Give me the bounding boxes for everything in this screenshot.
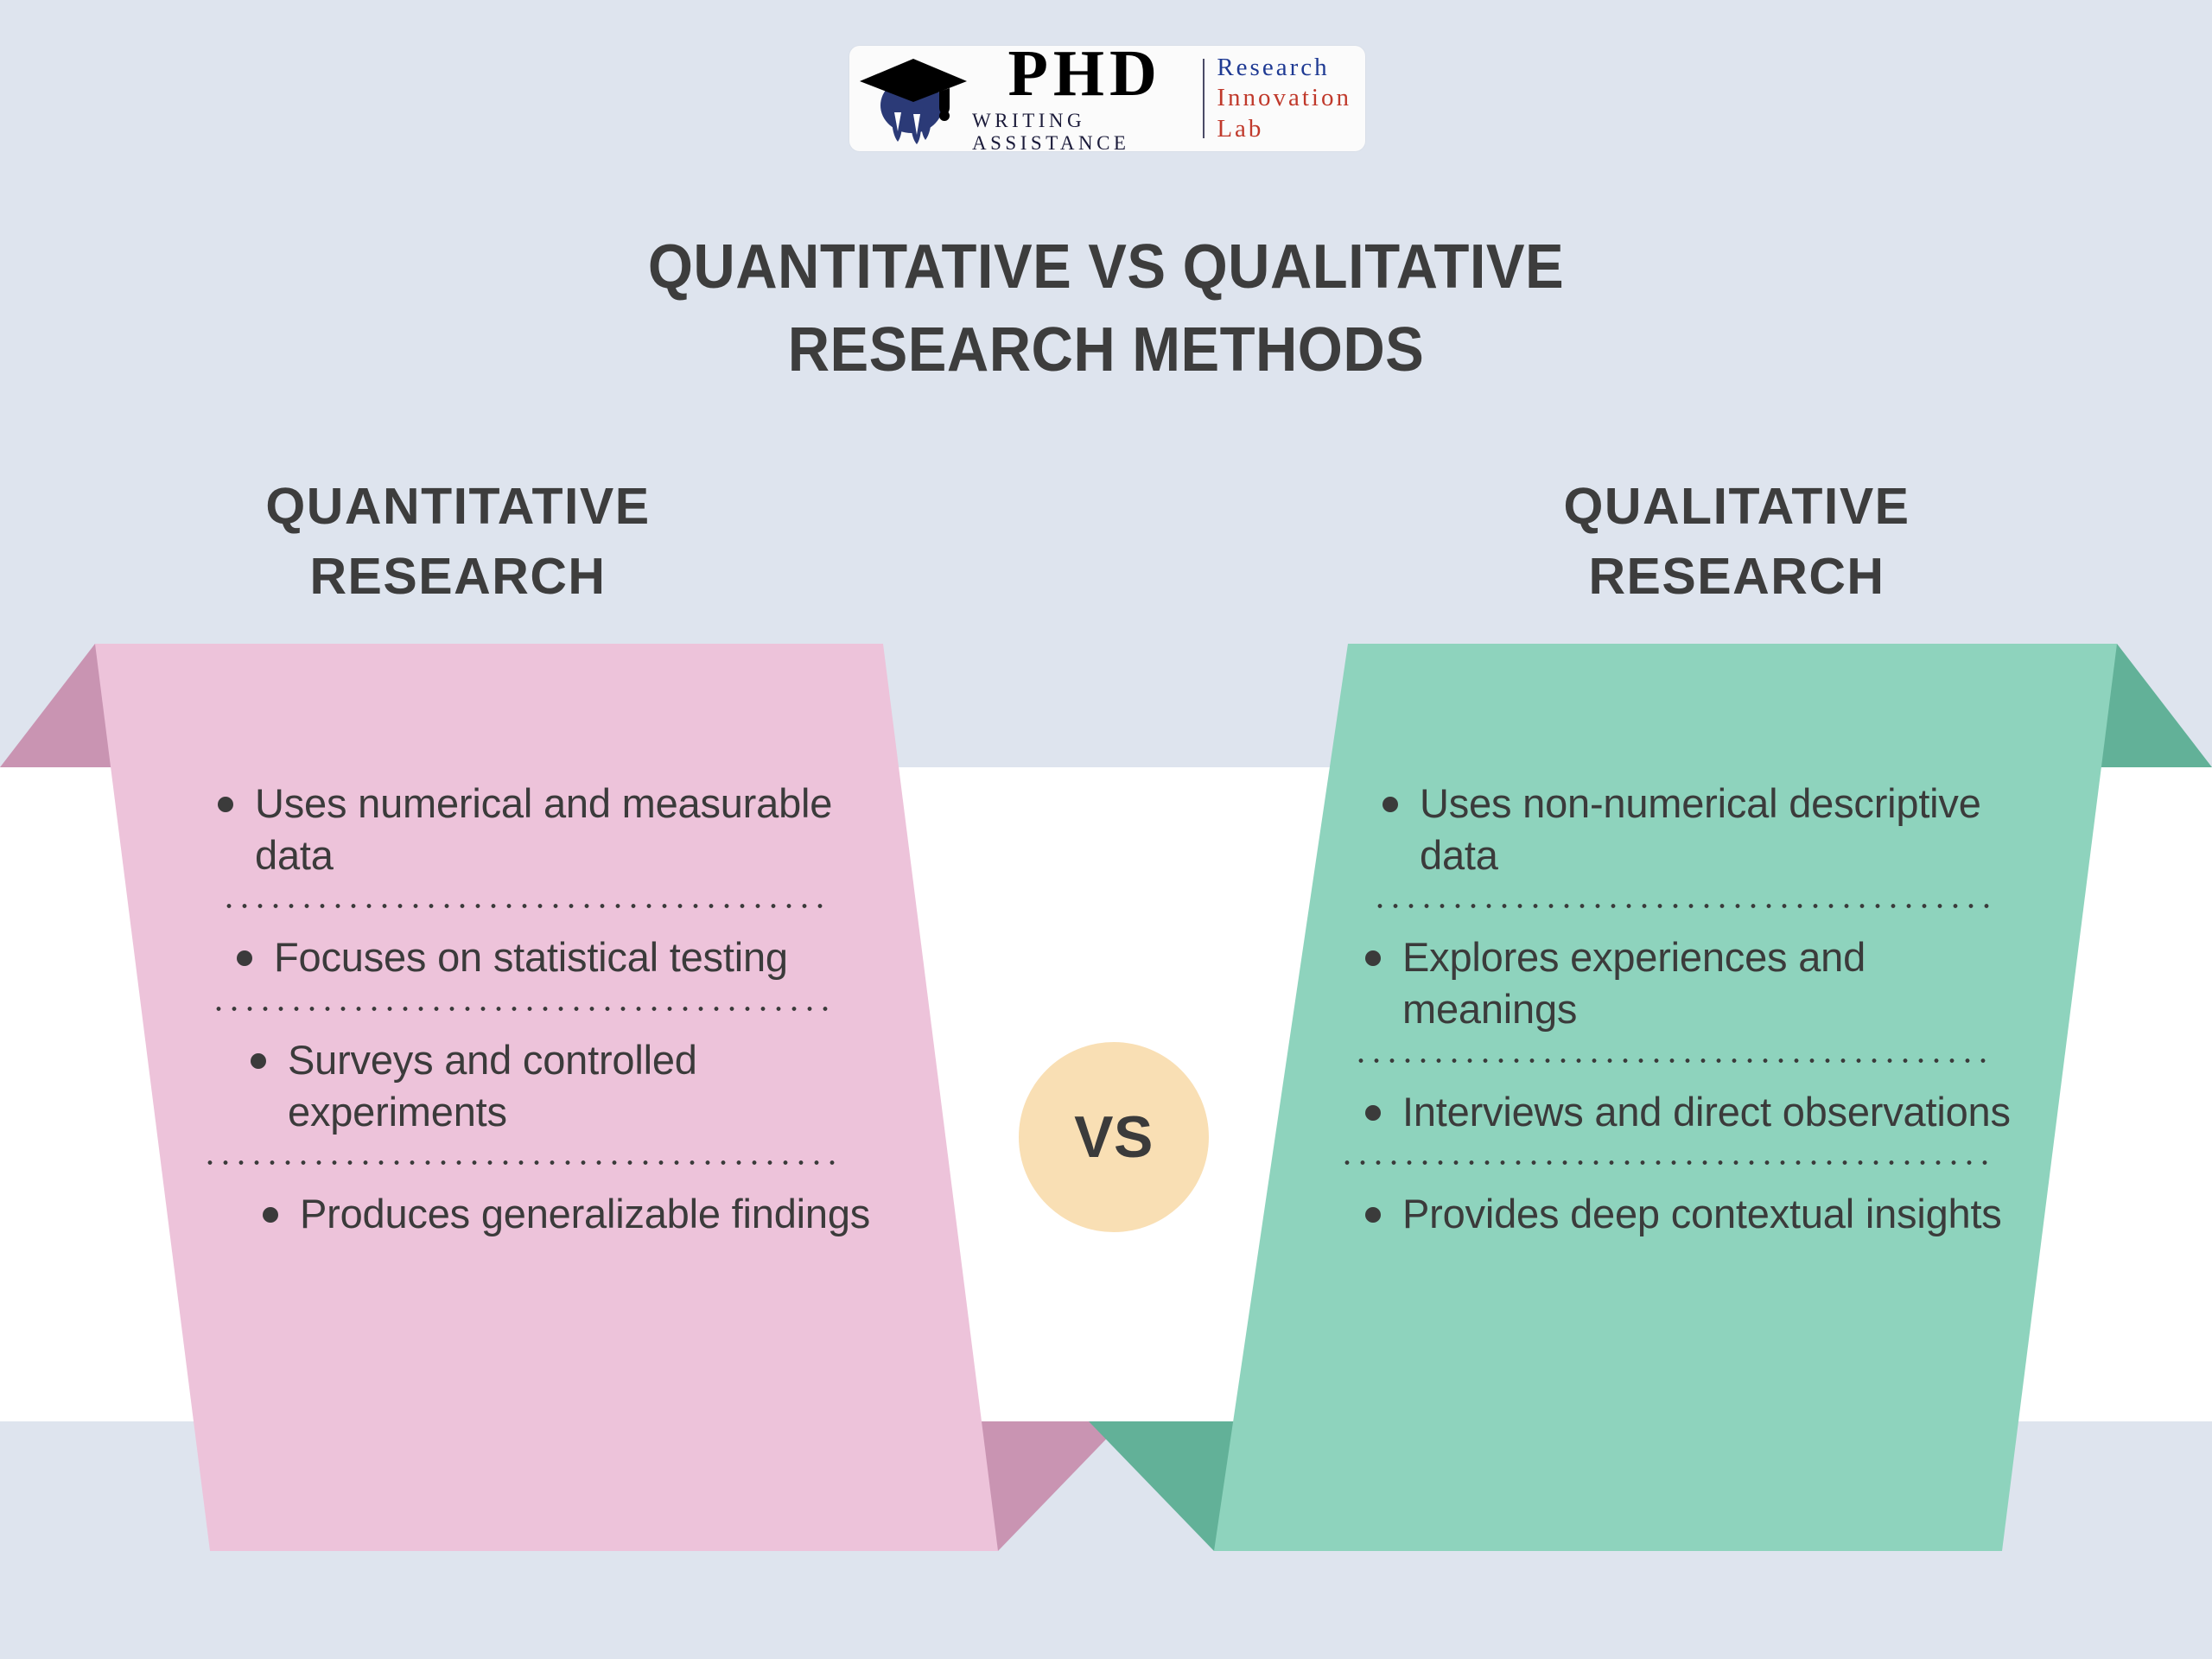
column-heading-quantitative: QUANTITATIVE RESEARCH (78, 472, 838, 612)
list-item: Surveys and controlled experiments (218, 1034, 874, 1137)
logo-lab-name: Research Innovation Lab (1217, 53, 1365, 144)
quantitative-feature-list: Uses numerical and measurable data Focus… (218, 778, 874, 1240)
vs-badge-label: VS (1074, 1103, 1154, 1171)
list-item: Uses numerical and measurable data (218, 778, 874, 880)
logo-line-research: Research (1217, 53, 1351, 83)
brand-logo: PHD WRITING ASSISTANCE Research Innovati… (849, 46, 1365, 151)
list-item-label: Interviews and direct observations (1402, 1086, 2048, 1138)
list-item-label: Produces generalizable findings (300, 1188, 874, 1240)
list-item: Explores experiences and meanings (1365, 931, 2048, 1034)
logo-line-innovation: Innovation (1217, 83, 1351, 113)
list-item: Uses non-numerical descriptive data (1365, 778, 2048, 880)
dotted-divider (1372, 903, 1999, 909)
dotted-divider (1353, 1058, 1993, 1064)
column-heading-qualitative: QUALITATIVE RESEARCH (1382, 472, 2091, 612)
logo-wordmark: PHD WRITING ASSISTANCE (969, 42, 1198, 154)
qualitative-feature-list: Uses non-numerical descriptive data Expl… (1365, 778, 2048, 1240)
list-item: Provides deep contextual insights (1365, 1188, 2048, 1240)
column-heading-quantitative-line1: QUANTITATIVE (78, 472, 838, 542)
list-item-label: Focuses on statistical testing (274, 931, 874, 983)
page-title-line2: RESEARCH METHODS (78, 309, 2135, 392)
graduation-cap-quill-icon (858, 52, 969, 145)
logo-divider (1203, 59, 1205, 138)
dotted-divider (1339, 1160, 1987, 1166)
bullet-dot-icon (1382, 797, 1398, 812)
list-item: Focuses on statistical testing (218, 931, 874, 983)
bullet-dot-icon (1365, 1207, 1381, 1223)
list-item-label: Surveys and controlled experiments (288, 1034, 874, 1137)
bullet-dot-icon (1365, 1105, 1381, 1121)
dotted-divider (211, 1006, 831, 1012)
bullet-dot-icon (251, 1053, 266, 1069)
bullet-dot-icon (218, 797, 233, 812)
column-heading-qualitative-line2: RESEARCH (1382, 542, 2091, 612)
list-item-label: Provides deep contextual insights (1402, 1188, 2048, 1240)
infographic-canvas: PHD WRITING ASSISTANCE Research Innovati… (0, 0, 2212, 1659)
list-item-label: Explores experiences and meanings (1402, 931, 2048, 1034)
column-heading-quantitative-line2: RESEARCH (78, 542, 838, 612)
list-item-label: Uses numerical and measurable data (255, 778, 874, 880)
vs-badge: VS (1019, 1042, 1209, 1232)
bullet-dot-icon (263, 1207, 278, 1223)
bullet-dot-icon (1365, 950, 1381, 966)
column-heading-qualitative-line1: QUALITATIVE (1382, 472, 2091, 542)
list-item-label: Uses non-numerical descriptive data (1420, 778, 2048, 880)
list-item: Interviews and direct observations (1365, 1086, 2048, 1138)
page-title-line1: QUANTITATIVE VS QUALITATIVE (78, 226, 2135, 309)
logo-line-lab: Lab (1217, 114, 1351, 144)
list-item: Produces generalizable findings (218, 1188, 874, 1240)
dotted-divider (202, 1160, 842, 1166)
logo-tagline: WRITING ASSISTANCE (972, 110, 1198, 155)
page-title: QUANTITATIVE VS QUALITATIVE RESEARCH MET… (78, 226, 2135, 392)
bullet-dot-icon (237, 950, 252, 966)
dotted-divider (221, 903, 826, 909)
logo-brand-text: PHD (1007, 42, 1161, 105)
